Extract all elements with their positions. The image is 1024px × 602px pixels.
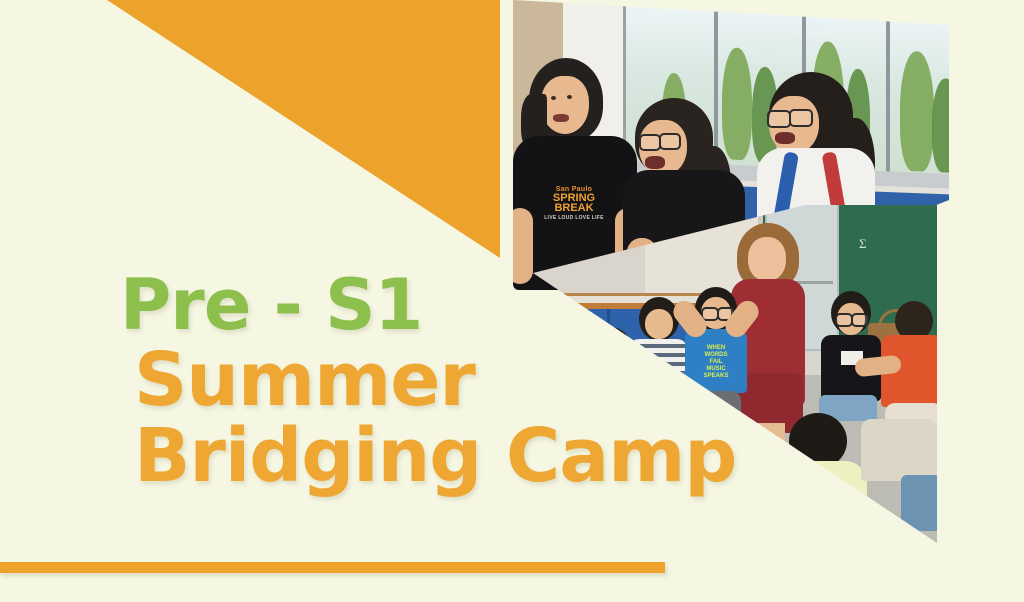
- student-seated-6: [861, 419, 937, 539]
- headline-line-1: Pre - S1: [120, 272, 738, 339]
- shirt-print-line2: SPRING BREAK: [553, 192, 595, 214]
- poster-canvas: San Paulo SPRING BREAK LIVE LOUD LOVE LI…: [0, 0, 1024, 602]
- orange-corner-wedge: [0, 0, 500, 258]
- headline-line-3: Bridging Camp: [134, 421, 738, 491]
- student-seated-4: [821, 291, 881, 421]
- shirt-print-line3: LIVE LOUD LOVE LIFE: [544, 215, 604, 221]
- student-back-foreground: [771, 413, 867, 547]
- poster-headline: Pre - S1 Summer Bridging Camp: [118, 272, 738, 491]
- orange-underline-rule: [0, 562, 665, 573]
- headline-line-2: Summer: [134, 345, 738, 415]
